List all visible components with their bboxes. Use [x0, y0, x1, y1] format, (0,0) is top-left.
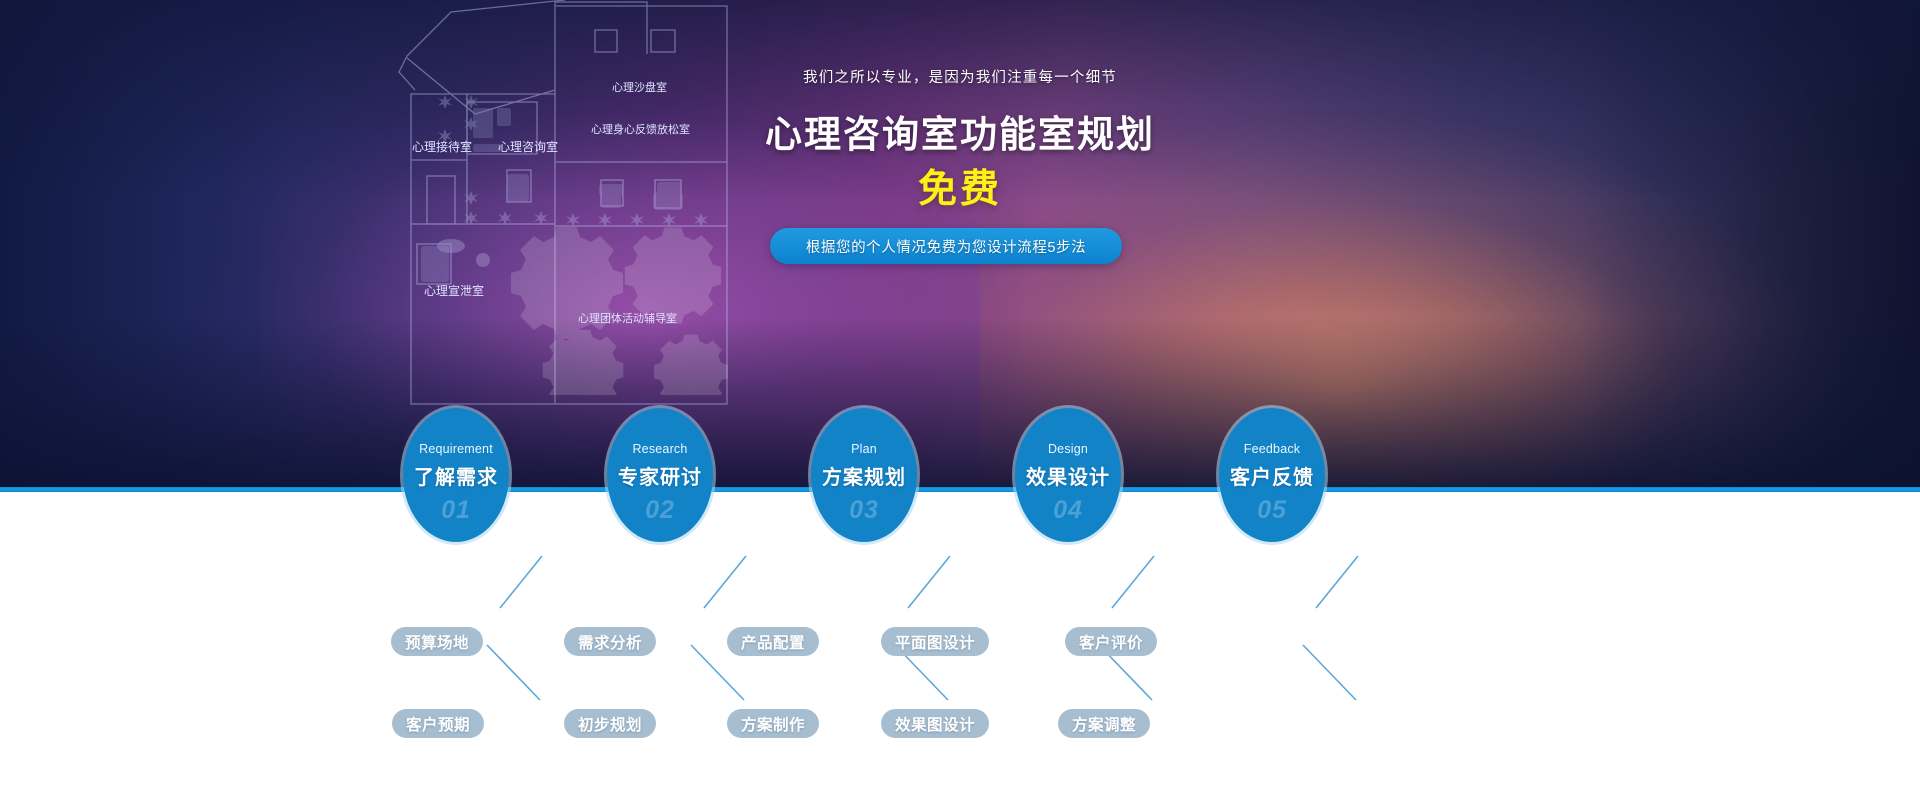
step-circle-1[interactable]: Requirement 了解需求 01 — [403, 408, 509, 542]
step-1-tag-2[interactable]: 客户预期 — [392, 709, 484, 738]
step-5-cn-label: 客户反馈 — [1230, 461, 1314, 490]
step-3-number: 03 — [849, 496, 879, 525]
step-4-tag-2[interactable]: 效果图设计 — [881, 709, 989, 738]
step-2-number: 02 — [645, 496, 675, 525]
step-circle-3[interactable]: Plan 方案规划 03 — [811, 408, 917, 542]
step-5-tag-2[interactable]: 方案调整 — [1058, 709, 1150, 738]
step-2-en-label: Research — [632, 442, 687, 456]
step-2-tag-2[interactable]: 初步规划 — [564, 709, 656, 738]
step-2-cn-label: 专家研讨 — [618, 461, 702, 490]
step-4-number: 04 — [1053, 496, 1083, 525]
step-2-tag-1[interactable]: 需求分析 — [564, 627, 656, 656]
step-1-cn-label: 了解需求 — [414, 461, 498, 490]
step-circle-4[interactable]: Design 效果设计 04 — [1015, 408, 1121, 542]
step-1-en-label: Requirement — [419, 442, 493, 456]
step-circle-5[interactable]: Feedback 客户反馈 05 — [1219, 408, 1325, 542]
step-3-en-label: Plan — [851, 442, 877, 456]
step-5-tag-1[interactable]: 客户评价 — [1065, 627, 1157, 656]
step-4-en-label: Design — [1048, 442, 1088, 456]
step-3-tag-1[interactable]: 产品配置 — [727, 627, 819, 656]
step-circle-2[interactable]: Research 专家研讨 02 — [607, 408, 713, 542]
step-3-cn-label: 方案规划 — [822, 461, 906, 490]
step-4-cn-label: 效果设计 — [1026, 461, 1110, 490]
step-5-number: 05 — [1257, 496, 1287, 525]
step-4-tag-1[interactable]: 平面图设计 — [881, 627, 989, 656]
step-1-number: 01 — [441, 496, 471, 525]
process-steps: Requirement 了解需求 01 预算场地 客户预期 Research 专… — [0, 0, 1920, 810]
page-root: 心理接待室 心理咨询室 心理沙盘室 心理身心反馈放松室 心理宣泄室 心理团体活动… — [0, 0, 1920, 810]
step-1-tag-1[interactable]: 预算场地 — [391, 627, 483, 656]
step-3-tag-2[interactable]: 方案制作 — [727, 709, 819, 738]
step-5-en-label: Feedback — [1244, 442, 1301, 456]
